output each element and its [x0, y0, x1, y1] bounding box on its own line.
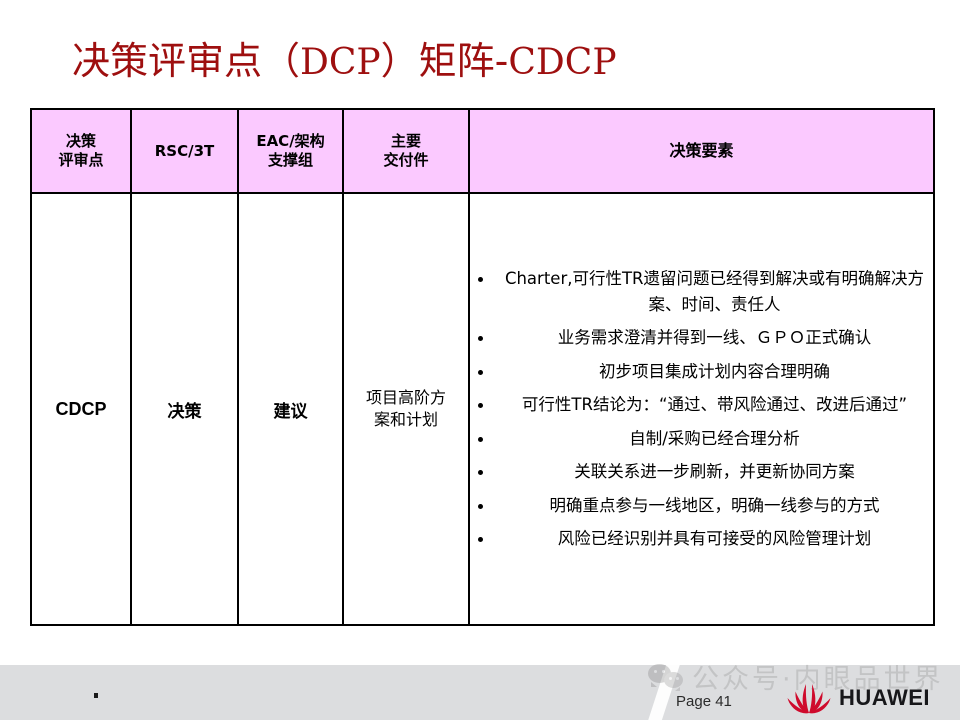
list-item: 关联关系进一步刷新，并更新协同方案 [470, 459, 933, 485]
column-header-deliverable-line2: 交付件 [344, 151, 468, 170]
dcp-matrix-table: 决策 评审点 RSC/3T EAC/架构 支撑组 主要 交付件 决策要素 CDC… [30, 108, 935, 626]
list-item: 风险已经识别并具有可接受的风险管理计划 [470, 526, 933, 552]
page-title-cdcp: CDCP [508, 42, 616, 83]
cell-deliverable: 项目高阶方 案和计划 [343, 193, 469, 625]
column-header-rsc-line1: RSC/3T [132, 142, 237, 161]
list-item: 明确重点参与一线地区，明确一线参与的方式 [470, 493, 933, 519]
column-header-dcp-line1: 决策 [32, 132, 130, 151]
list-item: Charter,可行性TR遗留问题已经得到解决或有明确解决方案、时间、责任人 [470, 266, 933, 317]
list-item: 可行性TR结论为：“通过、带风险通过、改进后通过” [470, 392, 933, 418]
table-row: CDCP 决策 建议 项目高阶方 案和计划 Charter,可行性TR遗留问题已… [31, 193, 934, 625]
column-header-decision-factors: 决策要素 [469, 109, 934, 193]
page-title-cn-part-2: ）矩阵- [381, 39, 509, 83]
cell-eac-role: 建议 [238, 193, 343, 625]
cell-deliverable-line2: 案和计划 [344, 409, 468, 431]
column-header-eac: EAC/架构 支撑组 [238, 109, 343, 193]
list-item: 初步项目集成计划内容合理明确 [470, 359, 933, 385]
page-number: Page 41 [676, 693, 732, 710]
cell-rsc-role: 决策 [131, 193, 238, 625]
column-header-decision-factors-label: 决策要素 [470, 141, 933, 161]
column-header-rsc: RSC/3T [131, 109, 238, 193]
list-item: 业务需求澄清并得到一线、ＧＰＯ正式确认 [470, 325, 933, 351]
column-header-deliverable-line1: 主要 [344, 132, 468, 151]
huawei-wordmark: HUAWEI [839, 685, 930, 711]
column-header-dcp: 决策 评审点 [31, 109, 131, 193]
list-item: 自制/采购已经合理分析 [470, 426, 933, 452]
page-title-dcp: DCP [300, 42, 381, 83]
table-header-row: 决策 评审点 RSC/3T EAC/架构 支撑组 主要 交付件 决策要素 [31, 109, 934, 193]
cell-deliverable-line1: 项目高阶方 [344, 387, 468, 409]
huawei-logo: HUAWEI [786, 682, 930, 714]
column-header-dcp-line2: 评审点 [32, 151, 130, 170]
cell-dcp-name: CDCP [31, 193, 131, 625]
column-header-deliverable: 主要 交付件 [343, 109, 469, 193]
column-header-eac-line2: 支撑组 [239, 151, 342, 170]
page-title-cn-part-1: 决策评审点（ [72, 39, 300, 83]
column-header-eac-line1: EAC/架构 [239, 132, 342, 151]
footer-bullet-dot [94, 693, 98, 698]
cell-decision-factors: Charter,可行性TR遗留问题已经得到解决或有明确解决方案、时间、责任人 业… [469, 193, 934, 625]
decision-factors-list: Charter,可行性TR遗留问题已经得到解决或有明确解决方案、时间、责任人 业… [470, 266, 933, 552]
huawei-flower-icon [786, 682, 832, 714]
page-title: 决策评审点（DCP）矩阵-CDCP [72, 30, 617, 85]
